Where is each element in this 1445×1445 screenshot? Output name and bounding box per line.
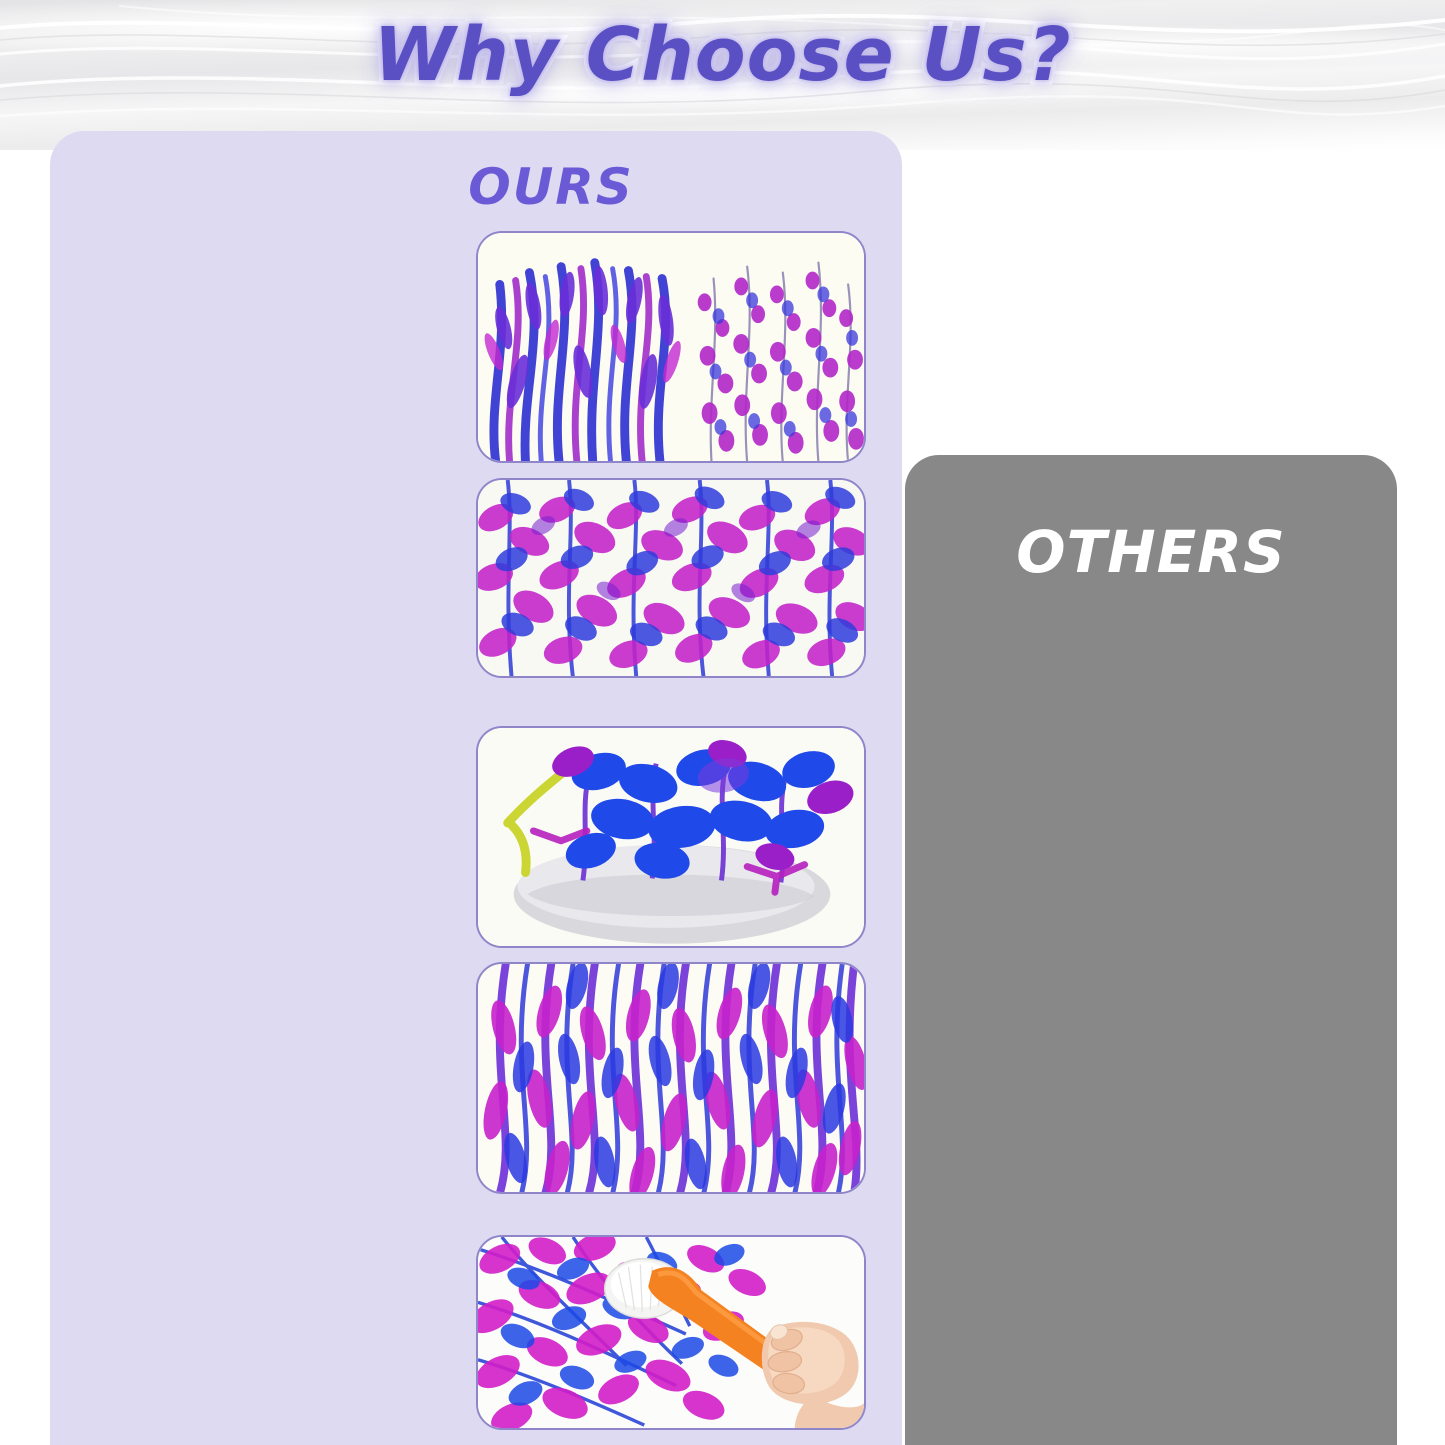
product-photo-easy-maintain-art xyxy=(478,1237,864,1430)
product-photo-two-styles-art xyxy=(478,233,864,463)
product-photo-rock-base-art xyxy=(478,728,864,948)
ours-heading: OURS xyxy=(50,158,902,216)
page-title: Why Choose Us? xyxy=(373,16,1071,94)
others-panel: OTHERS xyxy=(905,455,1397,1445)
product-photo-lifelike-art xyxy=(478,480,864,678)
others-heading: OTHERS xyxy=(905,518,1397,586)
product-photo-easy-maintain xyxy=(476,1235,866,1430)
product-photo-soft-texture xyxy=(476,962,866,1194)
product-photo-soft-texture-art xyxy=(478,964,864,1194)
product-photo-two-styles xyxy=(476,231,866,463)
product-photo-rock-base xyxy=(476,726,866,948)
page-title-wrap: Why Choose Us? xyxy=(0,16,1445,106)
product-photo-lifelike xyxy=(476,478,866,678)
